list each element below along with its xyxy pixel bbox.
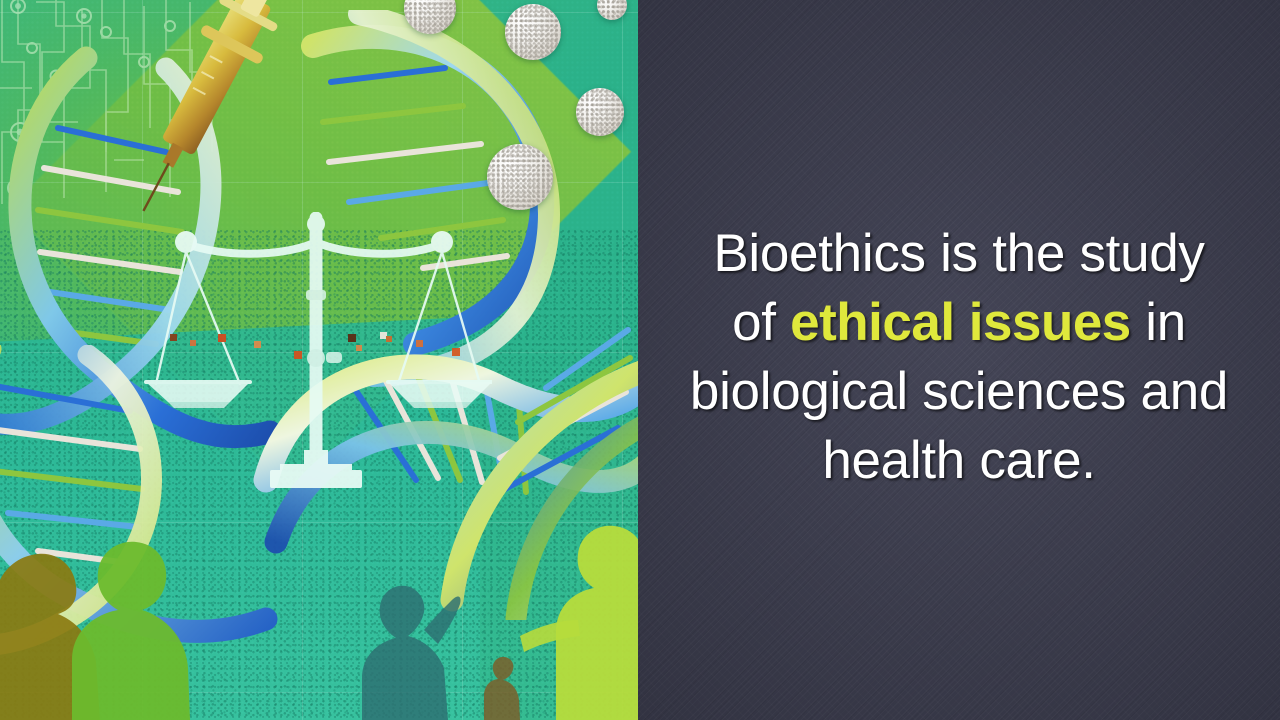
slide: Bioethics is the study of ethical issues…	[0, 0, 1280, 720]
syringe-icon	[118, 0, 288, 226]
quote-line-2: of ethical issues in	[659, 289, 1259, 358]
human-silhouette-arm	[424, 597, 461, 644]
quote-text: Bioethics is the study of ethical issues…	[659, 220, 1259, 496]
quote-line-4: health care.	[659, 427, 1259, 496]
quote-line-2-prefix: of	[732, 293, 790, 352]
quote-line-1: Bioethics is the study	[659, 220, 1259, 289]
quote-highlight-ethical-issues: ethical issues	[790, 293, 1131, 352]
human-silhouettes	[0, 510, 638, 720]
human-silhouette	[362, 586, 448, 720]
white-cell-sphere	[576, 88, 624, 136]
scales-of-justice-icon	[142, 212, 492, 512]
white-cell-sphere	[487, 144, 553, 210]
white-cell-sphere	[505, 4, 561, 60]
human-silhouette	[72, 542, 190, 720]
quote-line-2-suffix: in	[1131, 293, 1186, 352]
bioethics-image-panel	[0, 0, 638, 720]
quote-line-3: biological sciences and	[659, 358, 1259, 427]
quote-panel: Bioethics is the study of ethical issues…	[638, 0, 1280, 720]
human-silhouette	[484, 657, 520, 720]
